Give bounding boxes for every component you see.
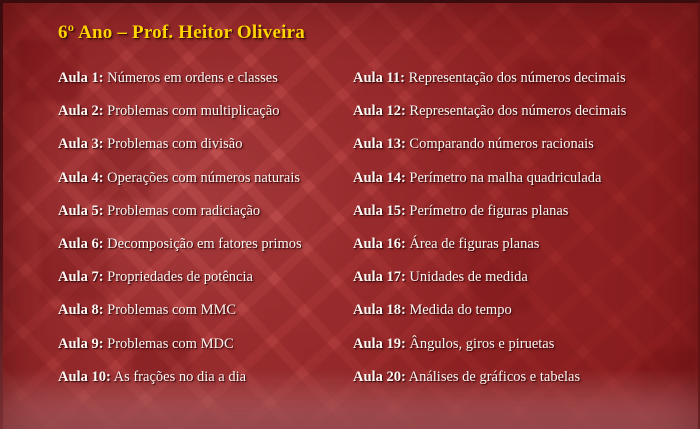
lesson-title: Medida do tempo [409, 302, 511, 318]
lesson-item: Aula 15: Perímetro de figuras planas [353, 195, 673, 228]
lesson-label: Aula 9: [58, 336, 104, 352]
lesson-title: Comparando números racionais [409, 136, 593, 152]
lesson-label: Aula 10: [58, 369, 111, 385]
lesson-label: Aula 15: [353, 203, 406, 219]
lesson-label: Aula 16: [353, 236, 406, 252]
lesson-title: Perímetro de figuras planas [409, 203, 568, 219]
lesson-label: Aula 3: [58, 136, 104, 152]
lesson-item: Aula 20: Análises de gráficos e tabelas [353, 361, 673, 394]
lesson-item: Aula 3: Problemas com divisão [58, 128, 348, 161]
lesson-label: Aula 1: [58, 70, 104, 86]
lesson-item: Aula 14: Perímetro na malha quadriculada [353, 162, 673, 195]
lesson-title: Problemas com MDC [107, 336, 233, 352]
lesson-item: Aula 7: Propriedades de potência [58, 261, 348, 294]
lesson-label: Aula 7: [58, 269, 104, 285]
lesson-item: Aula 1: Números em ordens e classes [58, 62, 348, 95]
lesson-title: Problemas com MMC [107, 302, 236, 318]
lesson-item: Aula 6: Decomposição em fatores primos [58, 228, 348, 261]
lesson-title: Representação dos números decimais [409, 103, 626, 119]
lesson-title: Problemas com radiciação [107, 203, 260, 219]
lesson-label: Aula 17: [353, 269, 406, 285]
lesson-title: Operações com números naturais [107, 170, 300, 186]
lesson-column-left: Aula 1: Números em ordens e classesAula … [58, 62, 348, 394]
lesson-item: Aula 19: Ângulos, giros e piruetas [353, 328, 673, 361]
lesson-title: Propriedades de potência [107, 269, 253, 285]
lesson-title: Representação dos números decimais [409, 70, 626, 86]
lesson-label: Aula 13: [353, 136, 406, 152]
lesson-label: Aula 5: [58, 203, 104, 219]
lesson-title: Problemas com divisão [107, 136, 242, 152]
slide-title: 6º Ano – Prof. Heitor Oliveira [58, 22, 305, 44]
lesson-label: Aula 19: [353, 336, 406, 352]
lesson-title: Números em ordens e classes [107, 70, 278, 86]
lesson-item: Aula 8: Problemas com MMC [58, 294, 348, 327]
lesson-item: Aula 11: Representação dos números decim… [353, 62, 673, 95]
lesson-item: Aula 16: Área de figuras planas [353, 228, 673, 261]
lesson-column-right: Aula 11: Representação dos números decim… [353, 62, 673, 394]
lesson-label: Aula 8: [58, 302, 104, 318]
lesson-item: Aula 12: Representação dos números decim… [353, 95, 673, 128]
lesson-item: Aula 17: Unidades de medida [353, 261, 673, 294]
lesson-item: Aula 13: Comparando números racionais [353, 128, 673, 161]
slide-content: 6º Ano – Prof. Heitor Oliveira Aula 1: N… [0, 0, 700, 429]
lesson-label: Aula 2: [58, 103, 104, 119]
lesson-title: Decomposição em fatores primos [107, 236, 301, 252]
lesson-label: Aula 20: [353, 369, 406, 385]
lesson-label: Aula 11: [353, 70, 405, 86]
presentation-slide: 6º Ano – Prof. Heitor Oliveira Aula 1: N… [0, 0, 700, 429]
lesson-label: Aula 18: [353, 302, 406, 318]
lesson-item: Aula 2: Problemas com multiplicação [58, 95, 348, 128]
lesson-label: Aula 6: [58, 236, 104, 252]
lesson-title: Ângulos, giros e piruetas [409, 336, 554, 352]
lesson-label: Aula 14: [353, 170, 406, 186]
lesson-label: Aula 12: [353, 103, 406, 119]
lesson-item: Aula 9: Problemas com MDC [58, 328, 348, 361]
lesson-title: Problemas com multiplicação [107, 103, 279, 119]
lesson-title: Análises de gráficos e tabelas [409, 369, 581, 385]
lesson-item: Aula 4: Operações com números naturais [58, 162, 348, 195]
lesson-title: As frações no dia a dia [114, 369, 246, 385]
lesson-title: Área de figuras planas [409, 236, 539, 252]
lesson-item: Aula 5: Problemas com radiciação [58, 195, 348, 228]
lesson-item: Aula 10: As frações no dia a dia [58, 361, 348, 394]
lesson-title: Unidades de medida [409, 269, 527, 285]
lesson-item: Aula 18: Medida do tempo [353, 294, 673, 327]
lesson-label: Aula 4: [58, 170, 104, 186]
lesson-title: Perímetro na malha quadriculada [409, 170, 601, 186]
